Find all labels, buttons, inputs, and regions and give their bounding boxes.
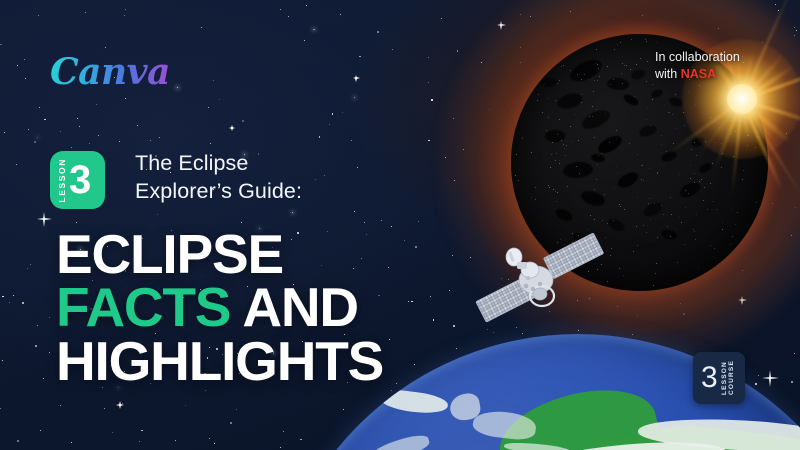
credit-line-2: with NASA — [655, 66, 790, 83]
headline-line-3: HIGHLIGHTS — [56, 335, 476, 388]
credit-line-1: In collaboration — [655, 49, 790, 66]
lesson-badge: LESSON 3 — [50, 151, 105, 209]
course-badge-labels: LESSON COURSE — [721, 360, 735, 395]
course-badge-word-1: LESSON — [721, 360, 728, 395]
satellite-icon — [470, 222, 610, 334]
headline-line-1: ECLIPSE — [56, 228, 476, 281]
course-badge-number: 3 — [701, 363, 717, 393]
headline-line-2: FACTS AND — [56, 281, 476, 334]
course-badge-word-2: COURSE — [728, 360, 735, 395]
lesson-badge-number: 3 — [69, 160, 90, 200]
collaboration-credit: In collaboration with NASA — [655, 49, 790, 83]
nasa-label: NASA — [681, 67, 716, 81]
course-badge: 3 LESSON COURSE — [693, 352, 745, 404]
page-title: ECLIPSE FACTS AND HIGHLIGHTS — [56, 228, 476, 388]
poster-canvas: Canva LESSON 3 The Eclipse Explorer’s Gu… — [0, 0, 800, 450]
subtitle-line-1: The Eclipse — [135, 150, 395, 178]
canva-logo[interactable]: Canva — [50, 51, 170, 93]
sun-flare-hotspot — [727, 84, 757, 114]
subtitle-line-2: Explorer’s Guide: — [135, 178, 395, 206]
subtitle: The Eclipse Explorer’s Guide: — [135, 150, 395, 205]
lesson-badge-label: LESSON — [57, 158, 67, 203]
credit-with: with — [655, 67, 681, 81]
